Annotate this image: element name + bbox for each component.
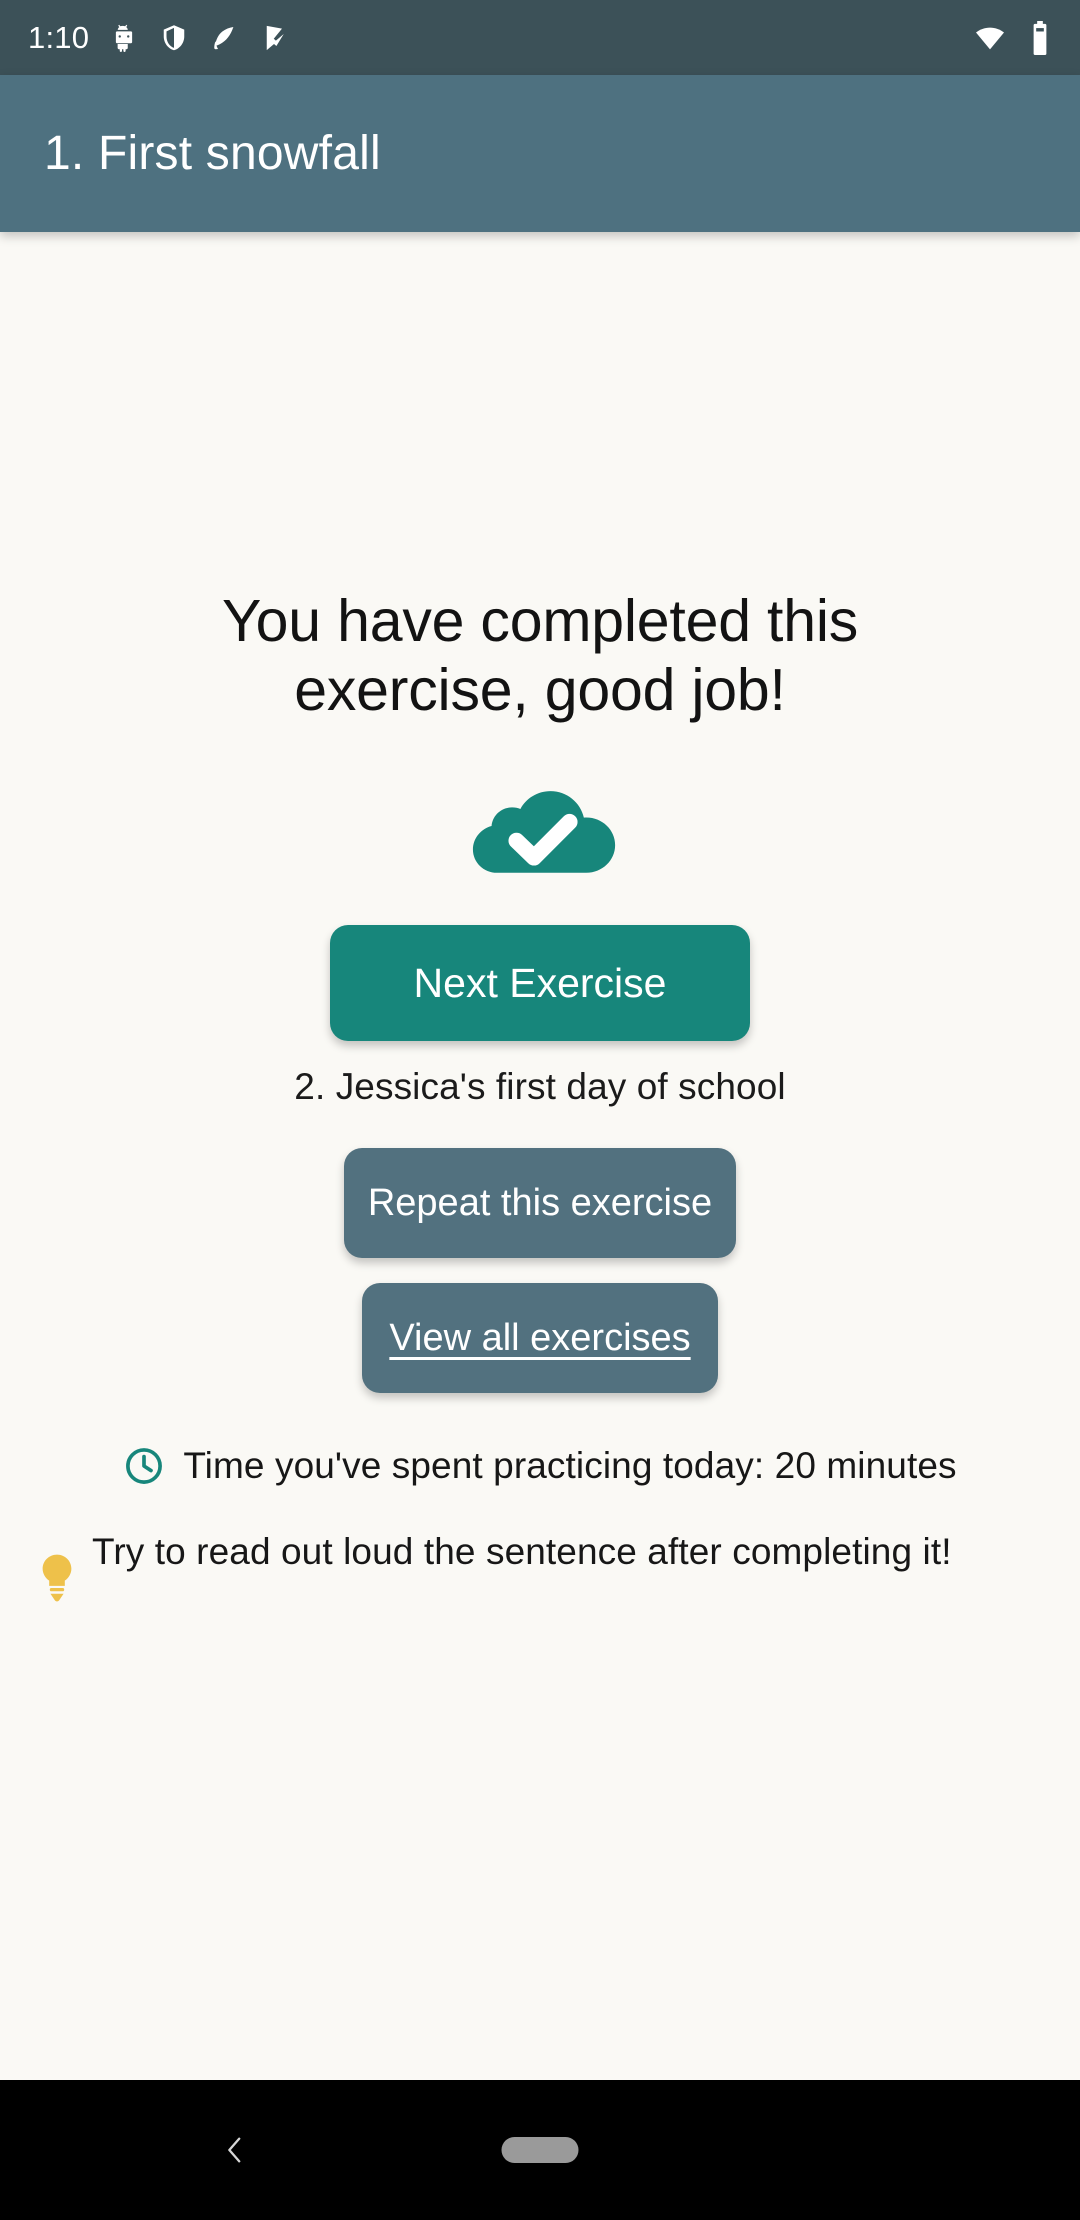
- status-bar-left-group: 1:10: [28, 20, 289, 56]
- next-exercise-button[interactable]: Next Exercise: [330, 925, 750, 1041]
- leaf-icon: [209, 23, 239, 53]
- repeat-exercise-button[interactable]: Repeat this exercise: [344, 1148, 736, 1258]
- practice-time-text: Time you've spent practicing today: 20 m…: [183, 1445, 956, 1487]
- view-all-exercises-label: View all exercises: [389, 1317, 690, 1360]
- view-all-exercises-button[interactable]: View all exercises: [362, 1283, 718, 1393]
- tip-text: Try to read out loud the sentence after …: [92, 1529, 952, 1575]
- nav-home-pill[interactable]: [502, 2137, 579, 2163]
- app-bar: 1. First snowfall: [0, 75, 1080, 232]
- status-bar-clock: 1:10: [28, 20, 89, 56]
- main-content: You have completed this exercise, good j…: [0, 232, 1080, 2080]
- shield-icon: [159, 23, 189, 53]
- wifi-icon: [974, 22, 1006, 54]
- phone-screen: 1:10 1. First snowf: [0, 0, 1080, 2220]
- chevron-left-icon: [218, 2133, 252, 2167]
- check-badge-icon: [259, 23, 289, 53]
- clock-icon: [123, 1445, 165, 1487]
- battery-icon: [1028, 21, 1052, 55]
- practice-time-row: Time you've spent practicing today: 20 m…: [0, 1445, 1080, 1487]
- cloud-check-icon: [459, 773, 621, 883]
- nav-back-button[interactable]: [205, 2120, 265, 2180]
- status-bar: 1:10: [0, 0, 1080, 75]
- android-debug-icon: [109, 23, 139, 53]
- tip-row: Try to read out loud the sentence after …: [0, 1529, 1080, 1603]
- completion-headline: You have completed this exercise, good j…: [160, 587, 920, 725]
- system-navigation-bar: [0, 2080, 1080, 2220]
- page-title: 1. First snowfall: [44, 130, 381, 178]
- next-exercise-label: Next Exercise: [414, 960, 667, 1007]
- status-bar-right-group: [974, 21, 1052, 55]
- repeat-exercise-label: Repeat this exercise: [368, 1182, 712, 1225]
- lightbulb-icon: [38, 1553, 76, 1603]
- next-exercise-subtitle: 2. Jessica's first day of school: [294, 1066, 785, 1108]
